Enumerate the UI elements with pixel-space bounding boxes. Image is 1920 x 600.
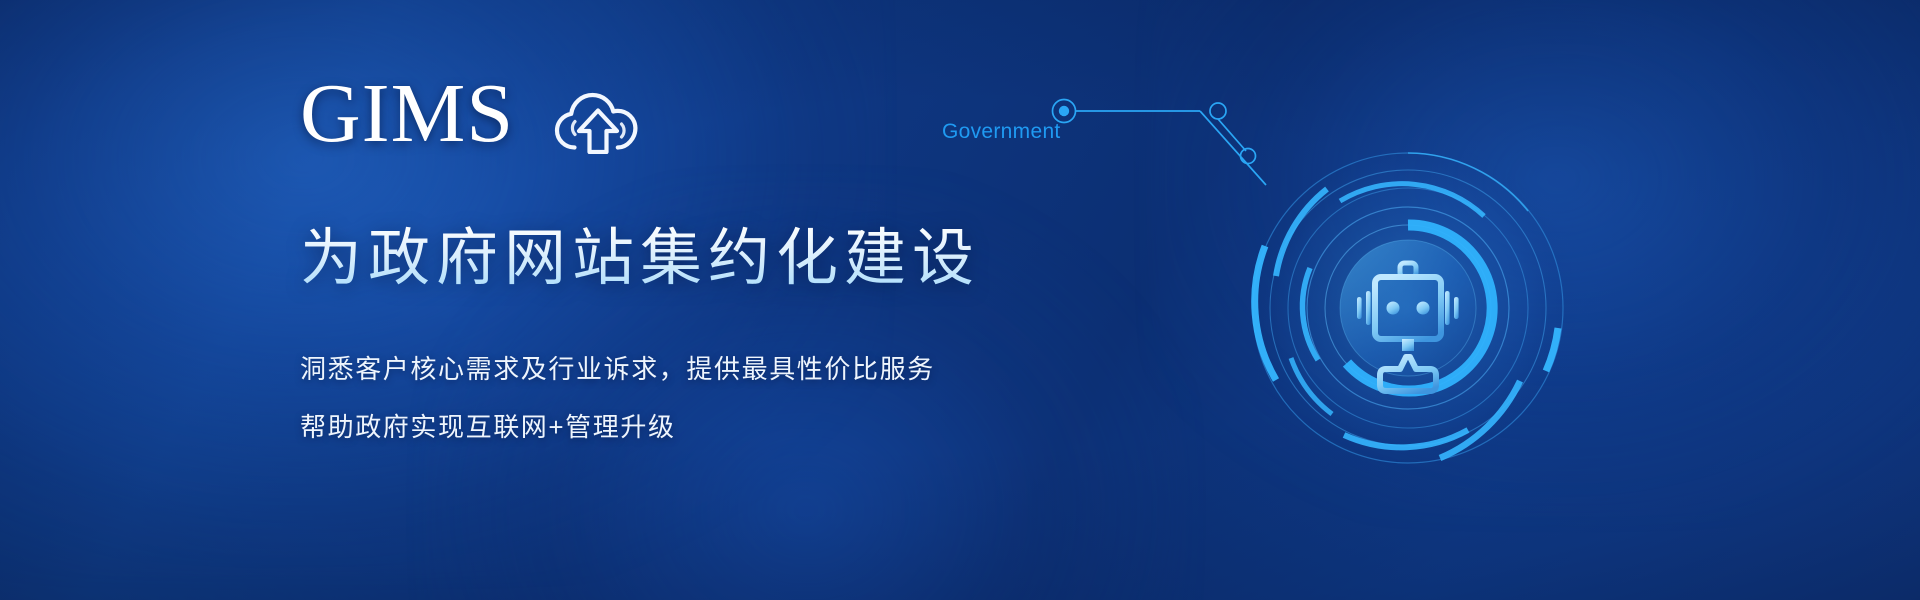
brand-title: GIMS [300,72,514,156]
headline: 为政府网站集约化建设 [300,224,980,293]
hero-banner: GIMS 为政府网站集约化建设 洞悉客户核心需求及行业诉求，提供最具性价比服务 … [0,0,1920,600]
subtitle-line-1: 洞悉客户核心需求及行业诉求，提供最具性价比服务 [300,354,935,386]
subtitle-group: 洞悉客户核心需求及行业诉求，提供最具性价比服务 帮助政府实现互联网+管理升级 [300,354,935,443]
cloud-upload-icon [548,84,648,159]
banner-content: GIMS 为政府网站集约化建设 洞悉客户核心需求及行业诉求，提供最具性价比服务 … [300,0,1120,600]
subtitle-line-2: 帮助政府实现互联网+管理升级 [300,412,935,444]
government-node-label: Government [942,120,1061,144]
brand-row: GIMS [300,68,648,159]
